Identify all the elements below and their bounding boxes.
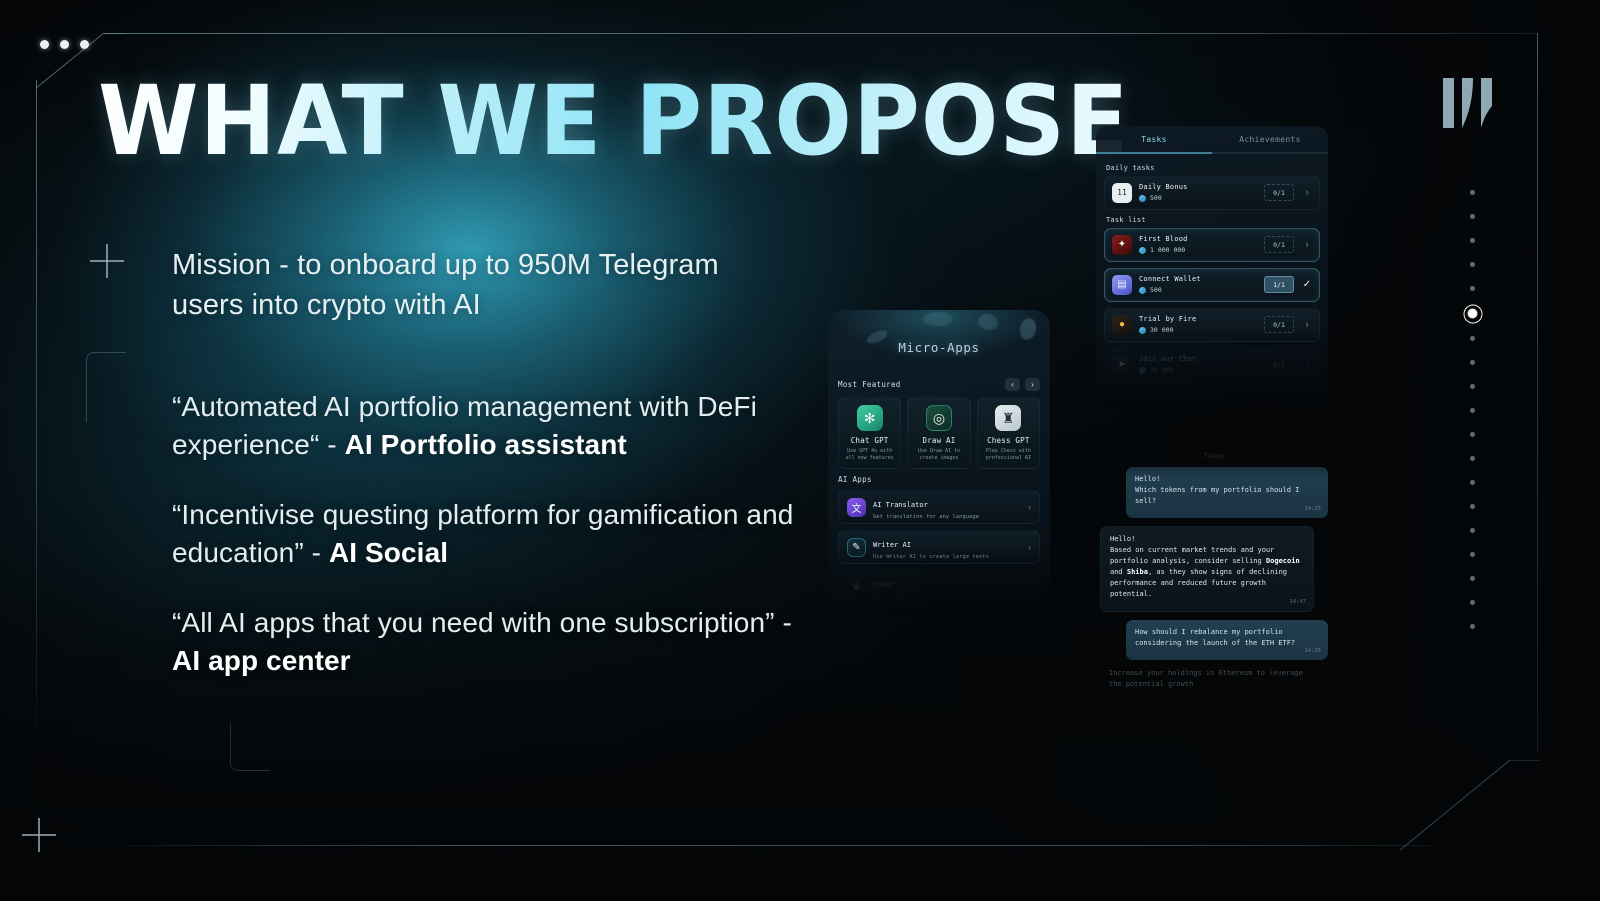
microapps-hero: Micro-Apps	[828, 310, 1050, 368]
calendar-icon: 11	[1112, 183, 1132, 203]
task-counter: 0/1	[1264, 184, 1294, 201]
chat-message-text: Hello! Which tokens from my portfolio sh…	[1135, 475, 1299, 505]
tab-achievements[interactable]: Achievements	[1212, 126, 1328, 152]
ai-app-name: AI Translator	[873, 501, 928, 509]
task-text: Join our Chat 10 000	[1139, 355, 1257, 374]
proposition-product: AI Social	[329, 537, 448, 568]
window-dot	[60, 40, 69, 49]
app-card-name: Chat GPT	[851, 436, 889, 445]
blood-glyph: ✦	[1112, 235, 1132, 255]
proposition-quote: “Incentivise questing platform for gamif…	[172, 499, 793, 568]
ai-app-desc: Use Writer AI to create large texts	[873, 554, 1021, 560]
blood-icon: ✦	[1112, 235, 1132, 255]
ai-app-row-joker[interactable]: ♛ Joker Get a joke for any occasion ›	[838, 570, 1040, 604]
window-dots	[40, 40, 89, 49]
chat-timestamp: 14:47	[1289, 597, 1306, 608]
slide-dot[interactable]	[1470, 600, 1475, 605]
task-reward: 10 000	[1139, 366, 1257, 374]
task-text: Trial by Fire 30 000	[1139, 315, 1257, 334]
ai-app-name: Writer AI	[873, 541, 911, 549]
proposition-quote: “All AI apps that you need with one subs…	[172, 607, 792, 638]
slide-dot[interactable]	[1470, 214, 1475, 219]
most-featured-label: Most Featured	[838, 380, 901, 389]
tasks-screenshot: Tasks Achievements Daily tasks 11 Daily …	[1096, 126, 1328, 406]
task-text: First Blood 1 000 000	[1139, 235, 1257, 254]
microapps-body: Most Featured ‹ › ✻ Chat GPT Use GPT 4o …	[828, 368, 1050, 604]
app-card-chessgpt[interactable]: ♜ Chess GPT Play Chess with professional…	[977, 397, 1040, 469]
tasks-body: Daily tasks 11 Daily Bonus 500 0/1 › Tas…	[1096, 154, 1328, 382]
task-name: First Blood	[1139, 235, 1257, 243]
task-name: Join our Chat	[1139, 355, 1257, 363]
window-dot	[40, 40, 49, 49]
slide-dot-active[interactable]	[1469, 310, 1476, 317]
task-row-connect-wallet[interactable]: ▤ Connect Wallet 500 1/1 ✓	[1104, 268, 1320, 302]
proposition-item: “Incentivise questing platform for gamif…	[172, 496, 812, 572]
proposition-product: AI app center	[172, 645, 351, 676]
check-icon: ✓	[1301, 279, 1313, 290]
chevron-right-icon[interactable]: ›	[1301, 359, 1313, 370]
task-reward: 30 000	[1139, 326, 1257, 334]
chatgpt-glyph: ✻	[857, 405, 883, 431]
crosshair-marker-bottom	[22, 818, 56, 852]
ai-app-text: Writer AI Use Writer AI to create large …	[873, 534, 1021, 560]
calendar-glyph: 11	[1112, 183, 1132, 203]
app-card-drawai[interactable]: ◎ Draw AI Use Draw AI to create images	[907, 397, 970, 469]
coin-icon	[1139, 247, 1146, 254]
app-card-name: Chess GPT	[987, 436, 1029, 445]
slide-dot[interactable]	[1470, 262, 1475, 267]
slide-dot[interactable]	[1470, 190, 1475, 195]
translator-icon: 文	[847, 498, 866, 517]
chat-bubble-user: Hello! Which tokens from my portfolio sh…	[1126, 467, 1328, 518]
chessgpt-icon: ♜	[995, 405, 1021, 431]
slide-dot[interactable]	[1470, 552, 1475, 557]
window-dot	[80, 40, 89, 49]
mission-statement: Mission - to onboard up to 950M Telegram…	[172, 245, 792, 325]
microapps-title: Micro-Apps	[828, 340, 1050, 355]
task-row-daily-bonus[interactable]: 11 Daily Bonus 500 0/1 ›	[1104, 176, 1320, 210]
slide-dot[interactable]	[1470, 384, 1475, 389]
coin-icon	[1139, 287, 1146, 294]
slide-pagination[interactable]	[1469, 190, 1476, 629]
carousel-arrows: ‹ ›	[1005, 378, 1040, 391]
task-row-join-our-chat[interactable]: ➤ Join our Chat 10 000 0/1 ›	[1104, 348, 1320, 382]
task-counter: 0/1	[1264, 236, 1294, 253]
drawai-glyph: ◎	[927, 406, 951, 430]
app-card-desc: Use Draw AI to create images	[912, 448, 966, 462]
chat-message-bold-shiba: Shiba	[1127, 568, 1148, 576]
task-name: Connect Wallet	[1139, 275, 1257, 283]
ai-apps-header: AI Apps	[838, 475, 1040, 484]
tab-tasks[interactable]: Tasks	[1096, 126, 1212, 152]
app-card-desc: Use GPT 4o with all new features	[843, 448, 897, 462]
proposition-product: AI Portfolio assistant	[345, 429, 627, 460]
chevron-right-icon[interactable]: ›	[1028, 542, 1031, 552]
ai-app-text: Joker Get a joke for any occasion	[873, 574, 1021, 600]
chat-message-mid: and	[1110, 568, 1127, 576]
task-row-trial-by-fire[interactable]: ● Trial by Fire 30 000 0/1 ›	[1104, 308, 1320, 342]
translator-glyph: 文	[847, 498, 866, 517]
ai-app-desc: Get translation for any language	[873, 514, 1021, 520]
writer-glyph: ✎	[848, 539, 865, 556]
chevron-right-icon[interactable]: ›	[1028, 582, 1031, 592]
chat-bubble-user: How should I rebalance my portfolio cons…	[1126, 620, 1328, 660]
proposition-item: “Automated AI portfolio management with …	[172, 388, 812, 464]
task-counter: 0/1	[1264, 316, 1294, 333]
task-counter: 0/1	[1264, 356, 1294, 373]
chessgpt-glyph: ♜	[995, 405, 1021, 431]
hero-decoration-icon	[923, 312, 953, 326]
drawai-icon: ◎	[926, 405, 952, 431]
ai-app-desc: Get a joke for any occasion	[873, 594, 1021, 600]
chat-bubble-bot: Hello! Based on current market trends an…	[1100, 526, 1314, 612]
writer-icon: ✎	[847, 538, 866, 557]
task-text: Connect Wallet 500	[1139, 275, 1257, 294]
slide-dot[interactable]	[1470, 408, 1475, 413]
proposition-list: “Automated AI portfolio management with …	[172, 388, 812, 712]
task-row-first-blood[interactable]: ✦ First Blood 1 000 000 0/1 ›	[1104, 228, 1320, 262]
slide-dot[interactable]	[1470, 360, 1475, 365]
flame-glyph: ●	[1112, 315, 1132, 335]
chevron-right-icon[interactable]: ›	[1301, 319, 1313, 330]
joker-glyph: ♛	[847, 578, 866, 597]
chat-icon: ➤	[1112, 355, 1132, 375]
task-name: Trial by Fire	[1139, 315, 1257, 323]
chevron-right-icon[interactable]: ›	[1301, 239, 1313, 250]
slide-dot[interactable]	[1470, 576, 1475, 581]
chat-day-divider: Today	[1100, 452, 1328, 460]
slide-dot[interactable]	[1470, 336, 1475, 341]
app-card-chatgpt[interactable]: ✻ Chat GPT Use GPT 4o with all new featu…	[838, 397, 901, 469]
slide-dot[interactable]	[1470, 624, 1475, 629]
hero-decoration-icon	[1018, 317, 1038, 342]
chat-message-text: How should I rebalance my portfolio cons…	[1135, 628, 1295, 647]
coin-icon	[1139, 327, 1146, 334]
chat-glyph: ➤	[1112, 355, 1132, 375]
slide-dot[interactable]	[1470, 286, 1475, 291]
task-amount: 500	[1150, 194, 1162, 202]
flame-icon: ●	[1112, 315, 1132, 335]
wallet-icon: ▤	[1112, 275, 1132, 295]
task-list-label: Task list	[1106, 216, 1320, 224]
ai-app-text: AI Translator Get translation for any la…	[873, 494, 1021, 520]
task-reward: 500	[1139, 286, 1257, 294]
ai-app-name: Joker	[873, 581, 894, 589]
chevron-left-icon[interactable]: ‹	[1005, 378, 1020, 391]
coin-icon	[1139, 195, 1146, 202]
joker-icon: ♛	[847, 578, 866, 597]
app-card-desc: Play Chess with professional AI	[981, 448, 1035, 462]
task-counter: 1/1	[1264, 276, 1294, 293]
brand-logo-mark	[1441, 72, 1499, 134]
task-amount: 30 000	[1150, 326, 1173, 334]
chat-message-pre: Hello! Based on current market trends an…	[1110, 535, 1274, 565]
most-featured-header: Most Featured ‹ ›	[838, 378, 1040, 391]
task-reward: 1 000 000	[1139, 246, 1257, 254]
slide-dot[interactable]	[1470, 504, 1475, 509]
hero-decoration-icon	[976, 311, 1000, 332]
slide-dot[interactable]	[1470, 528, 1475, 533]
chevron-right-icon[interactable]: ›	[1028, 502, 1031, 512]
ai-app-row-writer[interactable]: ✎ Writer AI Use Writer AI to create larg…	[838, 530, 1040, 564]
ai-app-row-translator[interactable]: 文 AI Translator Get translation for any …	[838, 490, 1040, 524]
crosshair-marker-middle	[90, 244, 124, 278]
featured-app-cards: ✻ Chat GPT Use GPT 4o with all new featu…	[838, 397, 1040, 469]
slide-dot[interactable]	[1470, 238, 1475, 243]
page-title: WHAT WE PROPOSE	[98, 68, 1129, 176]
daily-tasks-label: Daily tasks	[1106, 164, 1320, 172]
slide-dot[interactable]	[1470, 480, 1475, 485]
coin-icon	[1139, 367, 1146, 374]
task-tabs: Tasks Achievements	[1096, 126, 1328, 152]
chatgpt-icon: ✻	[857, 405, 883, 431]
chat-bubble-bot-faded: Increase your holdings in Ethereum to le…	[1100, 668, 1314, 690]
chat-message-bold-dogecoin: Dogecoin	[1266, 557, 1300, 565]
wallet-glyph: ▤	[1112, 275, 1132, 295]
slide-dot[interactable]	[1470, 432, 1475, 437]
chevron-right-icon[interactable]: ›	[1025, 378, 1040, 391]
slide-dot[interactable]	[1470, 456, 1475, 461]
task-amount: 10 000	[1150, 366, 1173, 374]
ai-apps-label: AI Apps	[838, 475, 872, 484]
microapps-screenshot: Micro-Apps Most Featured ‹ › ✻ Chat GPT …	[828, 310, 1050, 610]
chat-timestamp: 14:25	[1304, 504, 1321, 515]
task-text: Daily Bonus 500	[1139, 183, 1257, 202]
task-name: Daily Bonus	[1139, 183, 1257, 191]
chat-timestamp: 14:55	[1304, 646, 1321, 657]
app-card-name: Draw AI	[922, 436, 955, 445]
chat-screenshot: Today Hello! Which tokens from my portfo…	[1100, 452, 1328, 762]
task-reward: 500	[1139, 194, 1257, 202]
task-amount: 500	[1150, 286, 1162, 294]
task-amount: 1 000 000	[1150, 246, 1185, 254]
chevron-right-icon[interactable]: ›	[1301, 187, 1313, 198]
proposition-item: “All AI apps that you need with one subs…	[172, 604, 812, 680]
